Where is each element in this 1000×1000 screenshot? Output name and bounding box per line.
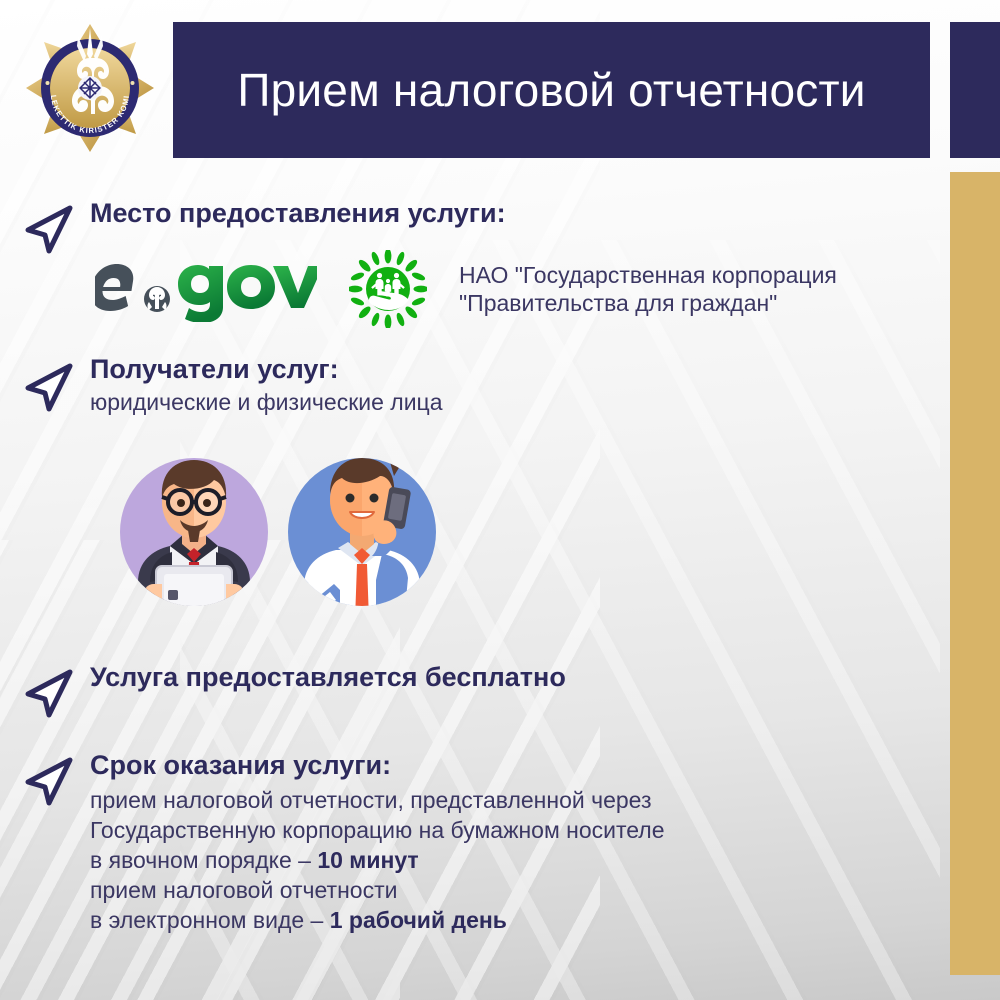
service-providers-row: НАО "Государственная корпорация "Правите… xyxy=(95,250,837,328)
section-recipients-body: юридические и физические лица xyxy=(90,388,443,418)
section-term-heading: Срок оказания услуги: xyxy=(90,750,665,781)
gfc-name-line-1: НАО "Государственная корпорация xyxy=(459,261,837,289)
term-line-3-prefix: в явочном порядке – xyxy=(90,847,317,873)
section-place-heading: Место предоставления услуги: xyxy=(90,198,506,229)
navigation-arrow-icon xyxy=(22,360,76,414)
page-title: Прием налоговой отчетности xyxy=(173,63,930,117)
term-line-5-value: 1 рабочий день xyxy=(330,907,507,933)
section-free-heading: Услуга предоставляется бесплатно xyxy=(90,662,566,693)
egov-logo-icon xyxy=(95,256,317,322)
individual-person-avatar xyxy=(274,444,450,625)
section-free-of-charge: Услуга предоставляется бесплатно xyxy=(22,662,566,693)
navigation-arrow-icon xyxy=(22,666,76,720)
infographic-page: MEMLEKETTIK KIRISTER KOMITETI Прием нало… xyxy=(0,0,1000,1000)
right-edge-gold-block xyxy=(950,172,1000,975)
state-emblem-icon: MEMLEKETTIK KIRISTER KOMITETI xyxy=(22,20,158,156)
gfc-organization-name: НАО "Государственная корпорация "Правите… xyxy=(459,261,837,317)
term-line-1: прием налоговой отчетности, представленн… xyxy=(90,786,665,816)
navigation-arrow-icon xyxy=(22,754,76,808)
section-term-body: прием налоговой отчетности, представленн… xyxy=(90,786,665,935)
term-line-5-prefix: в электронном виде – xyxy=(90,907,330,933)
term-line-2: Государственную корпорацию на бумажном н… xyxy=(90,816,665,846)
section-place-of-service: Место предоставления услуги: xyxy=(22,198,506,229)
legal-entity-avatar xyxy=(106,444,282,625)
section-recipients-heading: Получатели услуг: xyxy=(90,354,443,385)
term-line-4: прием налоговой отчетности xyxy=(90,876,665,906)
gfc-name-line-2: "Правительства для граждан" xyxy=(459,289,837,317)
government-for-citizens-logo-icon xyxy=(349,250,427,328)
right-edge-navy-block xyxy=(950,22,1000,158)
section-term-of-service: Срок оказания услуги: прием налоговой от… xyxy=(22,750,665,936)
term-line-5: в электронном виде – 1 рабочий день xyxy=(90,906,665,936)
term-line-3: в явочном порядке – 10 минут xyxy=(90,846,665,876)
navigation-arrow-icon xyxy=(22,202,76,256)
header-banner: Прием налоговой отчетности xyxy=(173,22,930,158)
section-recipients: Получатели услуг: юридические и физическ… xyxy=(22,354,443,418)
term-line-3-value: 10 минут xyxy=(317,847,418,873)
